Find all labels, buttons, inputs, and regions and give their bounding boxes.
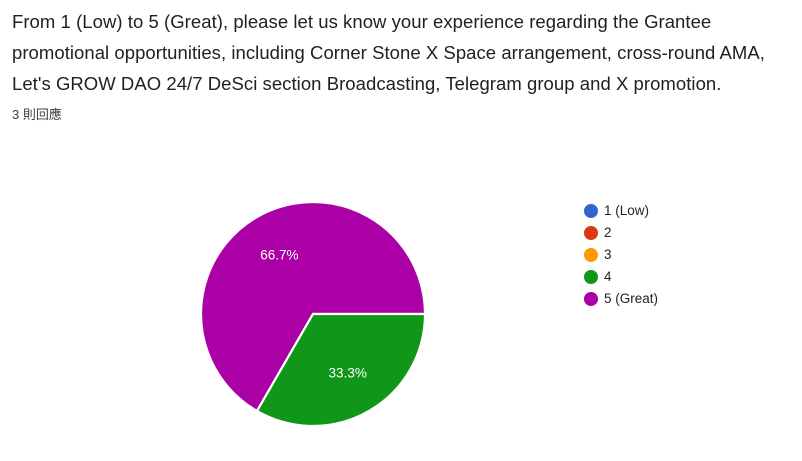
legend-color-dot-icon bbox=[584, 226, 598, 240]
legend-item-2[interactable]: 2 bbox=[584, 222, 764, 244]
page-title: From 1 (Low) to 5 (Great), please let us… bbox=[12, 6, 782, 99]
pie-chart: 66.7% 33.3% bbox=[201, 202, 425, 426]
chart-page: From 1 (Low) to 5 (Great), please let us… bbox=[0, 0, 802, 461]
response-count: 3 則回應 bbox=[12, 106, 782, 123]
legend-item-5-great[interactable]: 5 (Great) bbox=[584, 288, 764, 310]
pie-slice-label-5-great: 66.7% bbox=[260, 247, 298, 262]
pie-slice-label-4: 33.3% bbox=[329, 366, 367, 381]
legend-item-1-low[interactable]: 1 (Low) bbox=[584, 200, 764, 222]
legend-item-label: 1 (Low) bbox=[604, 200, 649, 222]
legend-item-label: 4 bbox=[604, 266, 612, 288]
legend-item-label: 2 bbox=[604, 222, 612, 244]
chart-legend: 1 (Low) 2 3 4 5 (Great) bbox=[584, 200, 764, 310]
pie-chart-svg: 66.7% 33.3% bbox=[201, 202, 425, 426]
legend-color-dot-icon bbox=[584, 292, 598, 306]
legend-color-dot-icon bbox=[584, 204, 598, 218]
legend-item-label: 3 bbox=[604, 244, 612, 266]
legend-item-label: 5 (Great) bbox=[604, 288, 658, 310]
question-block: From 1 (Low) to 5 (Great), please let us… bbox=[12, 6, 782, 123]
legend-color-dot-icon bbox=[584, 248, 598, 262]
legend-item-3[interactable]: 3 bbox=[584, 244, 764, 266]
legend-color-dot-icon bbox=[584, 270, 598, 284]
legend-item-4[interactable]: 4 bbox=[584, 266, 764, 288]
pie-chart-area: 66.7% 33.3% 1 (Low) 2 3 4 bbox=[0, 170, 802, 461]
